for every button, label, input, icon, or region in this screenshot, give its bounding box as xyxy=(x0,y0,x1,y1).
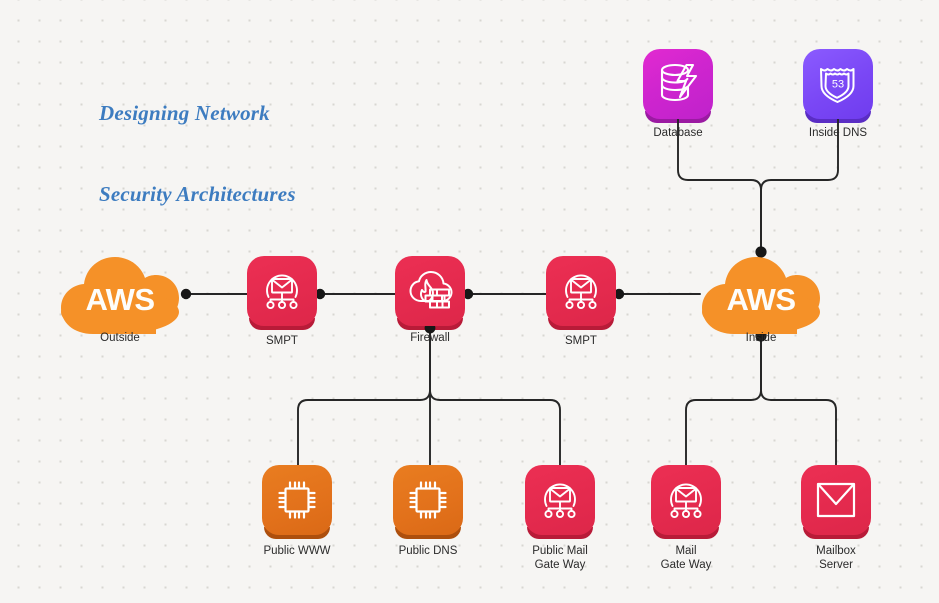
cpu-chip-icon xyxy=(393,465,463,535)
node-label-public-dns: Public DNS xyxy=(358,544,498,558)
envelope-icon xyxy=(801,465,871,535)
route53-shield-icon: 53 xyxy=(803,49,873,119)
edge-firewall-public-mail xyxy=(430,326,560,465)
node-label-mailbox-server: Mailbox Server xyxy=(766,544,906,572)
aws-cloud-icon: AWS xyxy=(700,254,822,336)
page-title-line-2: Security Architectures xyxy=(99,181,296,208)
route53-badge-number: 53 xyxy=(832,79,844,91)
node-label-inside-dns: Inside DNS xyxy=(773,126,903,140)
page-title: Designing Network Security Architectures xyxy=(99,46,296,262)
node-label-public-mail-gateway: Public Mail Gate Way xyxy=(490,544,630,572)
node-label-public-www: Public WWW xyxy=(227,544,367,558)
diagram-canvas: Designing Network Security Architectures xyxy=(0,0,939,603)
mail-network-icon xyxy=(525,465,595,535)
mail-network-icon xyxy=(247,256,317,326)
inside-cloud-text: AWS xyxy=(700,254,822,336)
node-label-firewall: Firewall xyxy=(365,331,495,345)
mail-network-icon xyxy=(651,465,721,535)
edge-inside-mail-gw xyxy=(686,336,761,465)
node-label-database: Database xyxy=(613,126,743,140)
edge-inside-mailbox xyxy=(761,336,836,465)
node-label-smtp-right: SMPT xyxy=(516,334,646,348)
cpu-chip-icon xyxy=(262,465,332,535)
mail-network-icon xyxy=(546,256,616,326)
node-label-smtp-left: SMPT xyxy=(217,334,347,348)
node-label-mail-gateway: Mail Gate Way xyxy=(616,544,756,572)
connector-dot-outside xyxy=(181,289,191,299)
edge-firewall-public-www xyxy=(298,326,430,465)
aws-cloud-icon: AWS xyxy=(59,254,181,336)
outside-cloud-text: AWS xyxy=(59,254,181,336)
edge-inside-dns-inside xyxy=(761,119,838,252)
firewall-cloud-icon xyxy=(395,256,465,326)
edge-database-inside xyxy=(678,119,761,252)
database-lightning-icon xyxy=(643,49,713,119)
page-title-line-1: Designing Network xyxy=(99,100,296,127)
